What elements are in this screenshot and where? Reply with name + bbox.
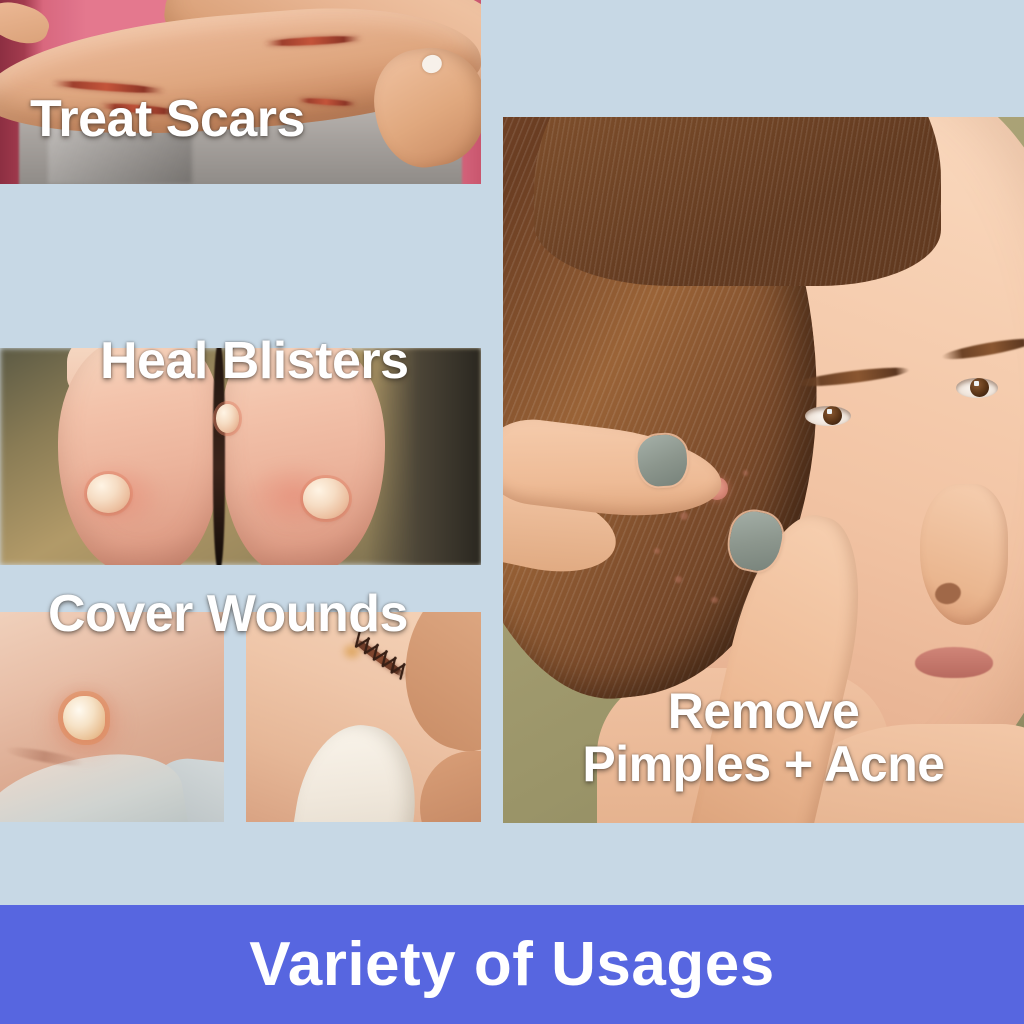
lips-shape (915, 647, 993, 678)
panel-cover-wounds-left (0, 612, 224, 822)
acne-spot (711, 597, 717, 603)
acne-spot (743, 470, 748, 476)
blister-shape (216, 404, 238, 432)
caption-line-1: Remove (668, 683, 860, 739)
nose-shape (920, 484, 1009, 625)
blister-shape (87, 474, 130, 513)
iris-shape (970, 378, 989, 397)
caption-cover-wounds: Cover Wounds (48, 588, 408, 640)
hair-top-shape (534, 117, 940, 286)
panel-cover-wounds-right (246, 612, 481, 822)
iris-shape (823, 406, 842, 425)
caption-treat-scars: Treat Scars (30, 93, 305, 145)
caption-remove-pimples-acne: Remove Pimples + Acne (503, 685, 1024, 791)
caption-line-2: Pimples + Acne (582, 736, 944, 792)
bottom-banner: Variety of Usages (0, 905, 1024, 1024)
banner-headline: Variety of Usages (249, 929, 774, 1000)
blister-shape (303, 478, 349, 519)
blister-shape (63, 696, 106, 740)
caption-heal-blisters: Heal Blisters (100, 335, 409, 387)
